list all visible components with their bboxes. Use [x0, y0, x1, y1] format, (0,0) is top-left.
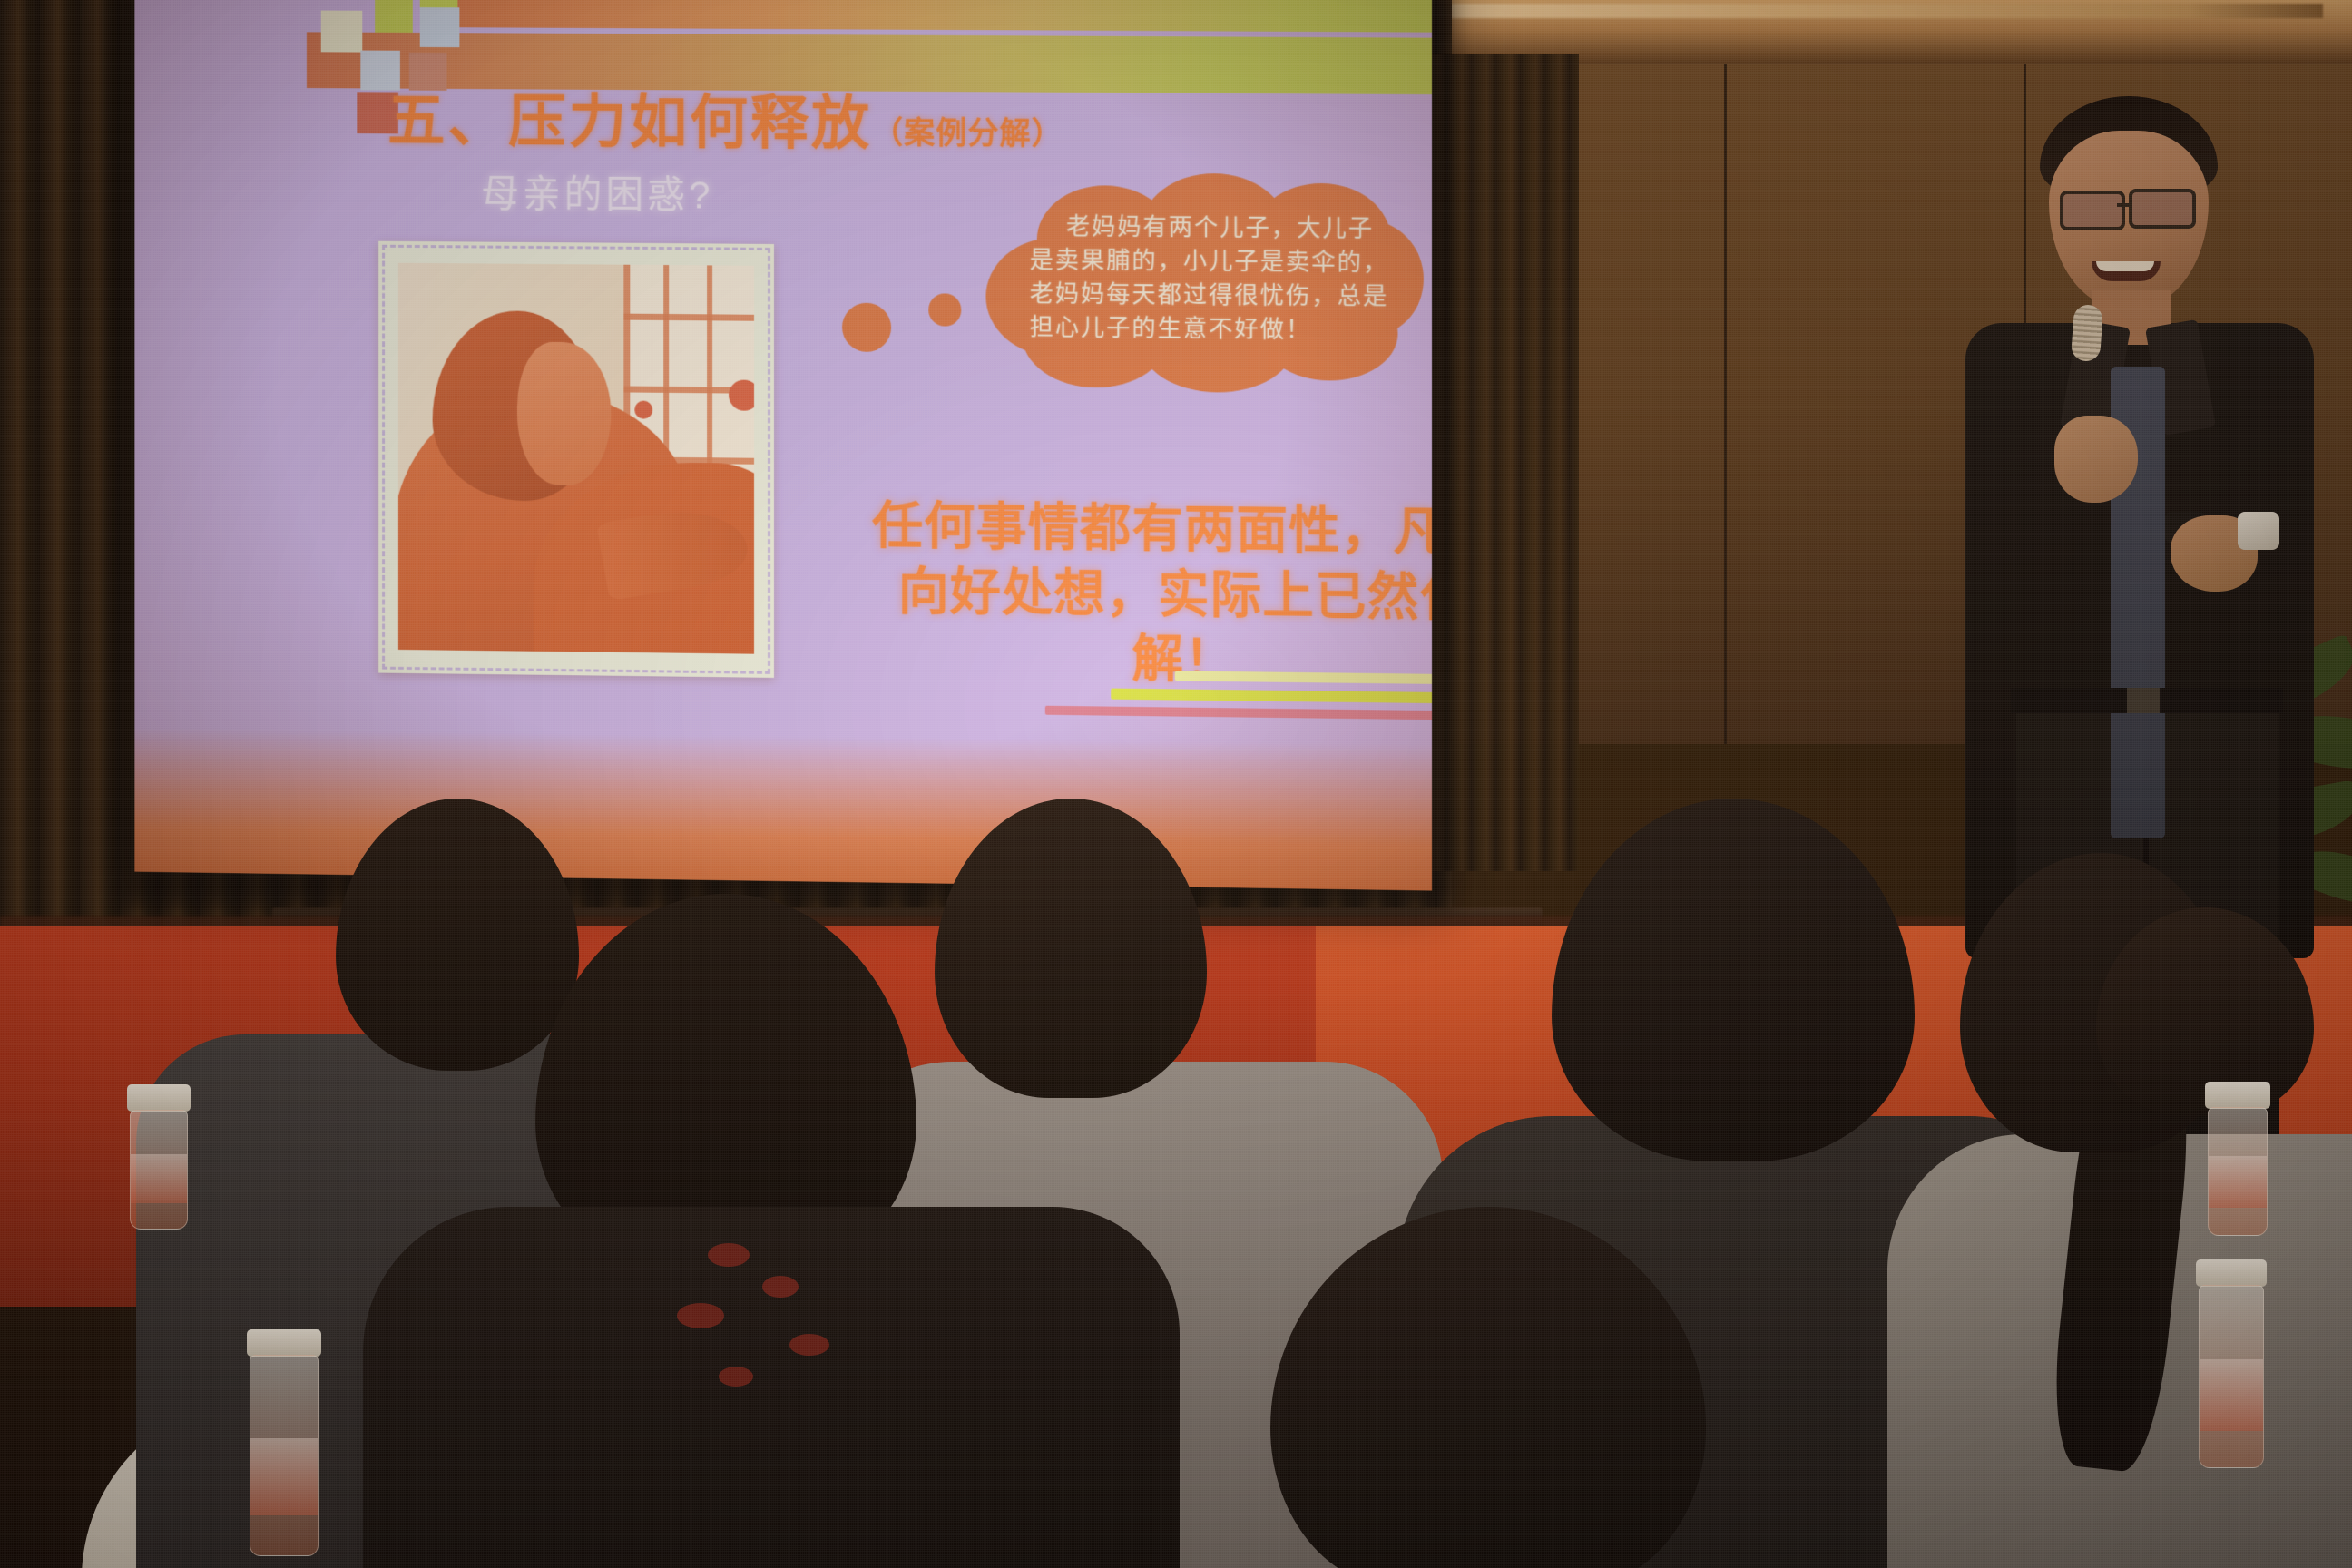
wristwatch — [2238, 512, 2279, 550]
water-bottle-right-front — [2196, 1259, 2267, 1468]
water-bottle-right — [2205, 1082, 2270, 1236]
screen-bottom-light-spill — [134, 728, 1432, 891]
microphone-grille — [2071, 304, 2103, 362]
water-bottle-left-front — [247, 1329, 321, 1556]
eyeglasses-bridge — [2117, 203, 2131, 207]
thought-bubble-tail-small — [928, 293, 961, 326]
presentation-photograph: 五、压力如何释放（案例分解） 母亲的困惑? — [0, 0, 2352, 1568]
thought-bubble: 老妈妈有两个儿子，大儿子是卖果脯的，小儿子是卖伞的，老妈妈每天都过得很忧伤，总是… — [985, 185, 1423, 382]
photo-dot-small — [634, 401, 652, 419]
slide-title: 五、压力如何释放（案例分解） — [387, 74, 1063, 162]
deco-square-green — [375, 0, 413, 33]
projection-screen: 五、压力如何释放（案例分解） 母亲的困惑? — [134, 0, 1432, 891]
deco-line-pink — [1045, 706, 1432, 720]
slide-subtitle: 母亲的困惑? — [481, 163, 713, 220]
thought-bubble-tail-large — [842, 303, 891, 353]
deco-square-blue — [420, 7, 460, 47]
slide-photo-elderly-woman — [398, 263, 754, 654]
slide-title-text: 五、压力如何释放 — [387, 88, 872, 156]
water-bottle-far-left — [127, 1084, 191, 1230]
eyeglasses-left-lens — [2060, 191, 2125, 230]
speaker-teeth — [2096, 261, 2154, 271]
slide-top-gradient-bar — [431, 0, 1432, 33]
slide-photo-frame — [378, 241, 774, 678]
deco-square-green-top — [420, 0, 458, 7]
deco-square-pale-cream — [321, 11, 363, 53]
ceiling-light-strip — [1416, 4, 2323, 18]
slide-punchline-line-1: 任何事情都有两面性，凡事 — [856, 493, 1432, 565]
photo-dot-large — [729, 380, 754, 411]
belt-buckle — [2127, 688, 2160, 713]
slide-title-parenthetical: （案例分解） — [872, 116, 1063, 152]
eyeglasses-right-lens — [2129, 189, 2196, 229]
thought-bubble-text: 老妈妈有两个儿子，大儿子是卖果脯的，小儿子是卖伞的，老妈妈每天都过得很忧伤，总是… — [1030, 211, 1389, 348]
slide-punchline: 任何事情都有两面性，凡事 向好处想，实际上已然化解！ — [856, 493, 1432, 696]
wall-seam-1 — [1724, 54, 1727, 744]
audience-member-2-body — [363, 1207, 1180, 1568]
speaker-hand-holding-mic — [2054, 416, 2138, 503]
